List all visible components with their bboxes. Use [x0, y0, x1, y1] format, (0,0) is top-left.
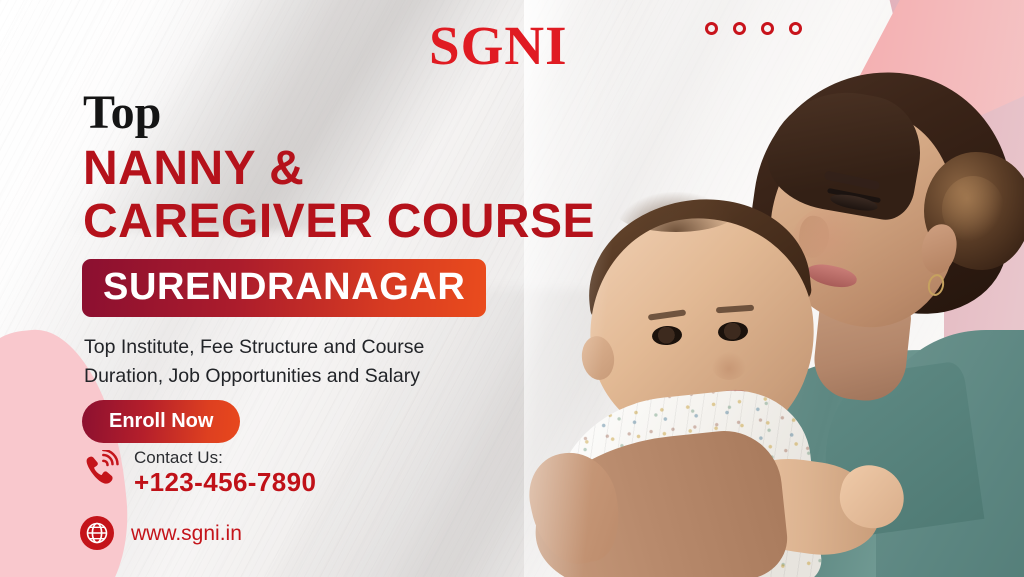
headline-line-1: NANNY &	[83, 144, 304, 194]
contact-label: Contact Us:	[134, 447, 316, 468]
circle-outline-icon	[761, 22, 774, 35]
promo-banner: SGNI Top NANNY & CAREGIVER COURSE SUREND…	[0, 0, 1024, 577]
phone-ringing-icon	[80, 450, 120, 495]
caregiver-baby-photo	[524, 0, 1024, 577]
brand-logo: SGNI	[429, 18, 568, 73]
enroll-now-button[interactable]: Enroll Now	[82, 400, 240, 443]
contact-text: Contact Us: +123-456-7890	[134, 447, 316, 498]
subtitle-line-2: Duration, Job Opportunities and Salary	[84, 362, 514, 391]
baby-hair-wisp	[616, 192, 736, 232]
headline-eyebrow: Top	[83, 89, 161, 137]
contact-block[interactable]: Contact Us: +123-456-7890	[80, 447, 316, 498]
contact-phone-number[interactable]: +123-456-7890	[134, 468, 316, 498]
baby-nose	[712, 352, 746, 380]
circle-outline-icon	[789, 22, 802, 35]
decorative-dots	[705, 22, 802, 35]
globe-icon	[80, 516, 114, 550]
circle-outline-icon	[705, 22, 718, 35]
subtitle-line-1: Top Institute, Fee Structure and Course	[84, 333, 514, 362]
subtitle: Top Institute, Fee Structure and Course …	[84, 333, 514, 392]
city-badge: SURENDRANAGAR	[82, 259, 486, 317]
circle-outline-icon	[733, 22, 746, 35]
website-block[interactable]: www.sgni.in	[80, 516, 242, 550]
website-url[interactable]: www.sgni.in	[131, 523, 242, 544]
headline-line-2: CAREGIVER COURSE	[83, 197, 595, 247]
